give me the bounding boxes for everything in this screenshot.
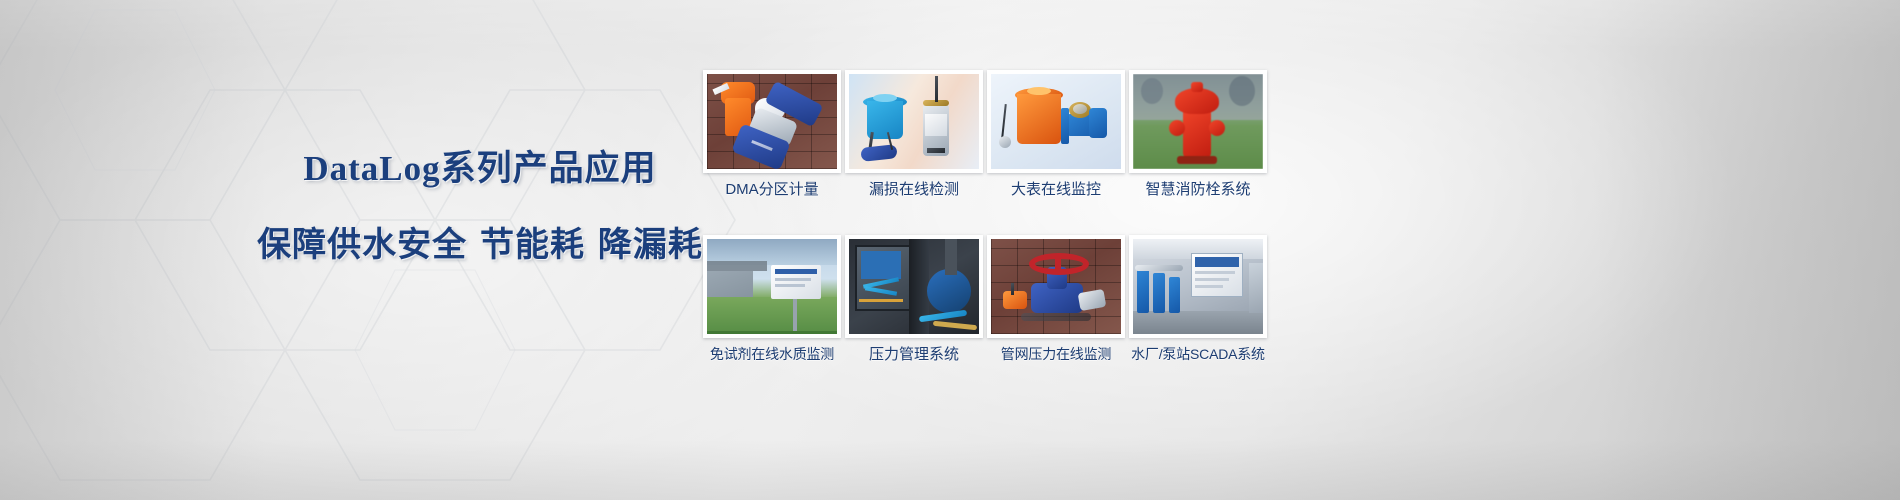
product-card[interactable]: 漏损在线检测 [845,70,983,199]
product-card[interactable]: 压力管理系统 [845,235,983,364]
product-caption: 管网压力在线监测 [1001,347,1111,362]
product-caption: 大表在线监控 [1011,182,1101,199]
product-thumbnail[interactable] [703,70,841,173]
product-caption: 水厂/泵站SCADA系统 [1131,347,1265,362]
product-card[interactable]: 免试剂在线水质监测 [703,235,841,364]
dma-metering-photo [707,74,837,169]
product-thumbnail[interactable] [845,70,983,173]
water-quality-photo [707,239,837,334]
product-application-banner: DataLog系列产品应用 保障供水安全 节能耗 降漏耗 [0,0,1900,500]
smart-hydrant-photo [1133,74,1263,169]
product-thumbnail[interactable] [1129,70,1267,173]
pressure-management-photo [849,239,979,334]
product-application-grid: DMA分区计量 [703,70,1267,363]
product-thumbnail[interactable] [703,235,841,338]
pipe-pressure-photo [991,239,1121,334]
large-meter-photo [991,74,1121,169]
product-caption: DMA分区计量 [725,182,818,199]
product-caption: 智慧消防栓系统 [1145,182,1250,199]
product-caption: 漏损在线检测 [869,182,959,199]
headline-block: DataLog系列产品应用 保障供水安全 节能耗 降漏耗 [170,140,790,266]
product-caption: 免试剂在线水质监测 [710,347,834,362]
product-card[interactable]: 智慧消防栓系统 [1129,70,1267,199]
leak-detection-photo [849,74,979,169]
headline-secondary: 保障供水安全 节能耗 降漏耗 [170,217,790,266]
product-thumbnail[interactable] [987,235,1125,338]
headline-primary: DataLog系列产品应用 [170,140,790,191]
product-card[interactable]: 大表在线监控 [987,70,1125,199]
product-card[interactable]: DMA分区计量 [703,70,841,199]
scada-photo [1133,239,1263,334]
product-thumbnail[interactable] [1129,235,1267,338]
product-thumbnail[interactable] [987,70,1125,173]
product-card[interactable]: 管网压力在线监测 [987,235,1125,364]
product-card[interactable]: 水厂/泵站SCADA系统 [1129,235,1267,364]
product-thumbnail[interactable] [845,235,983,338]
product-caption: 压力管理系统 [869,347,959,364]
